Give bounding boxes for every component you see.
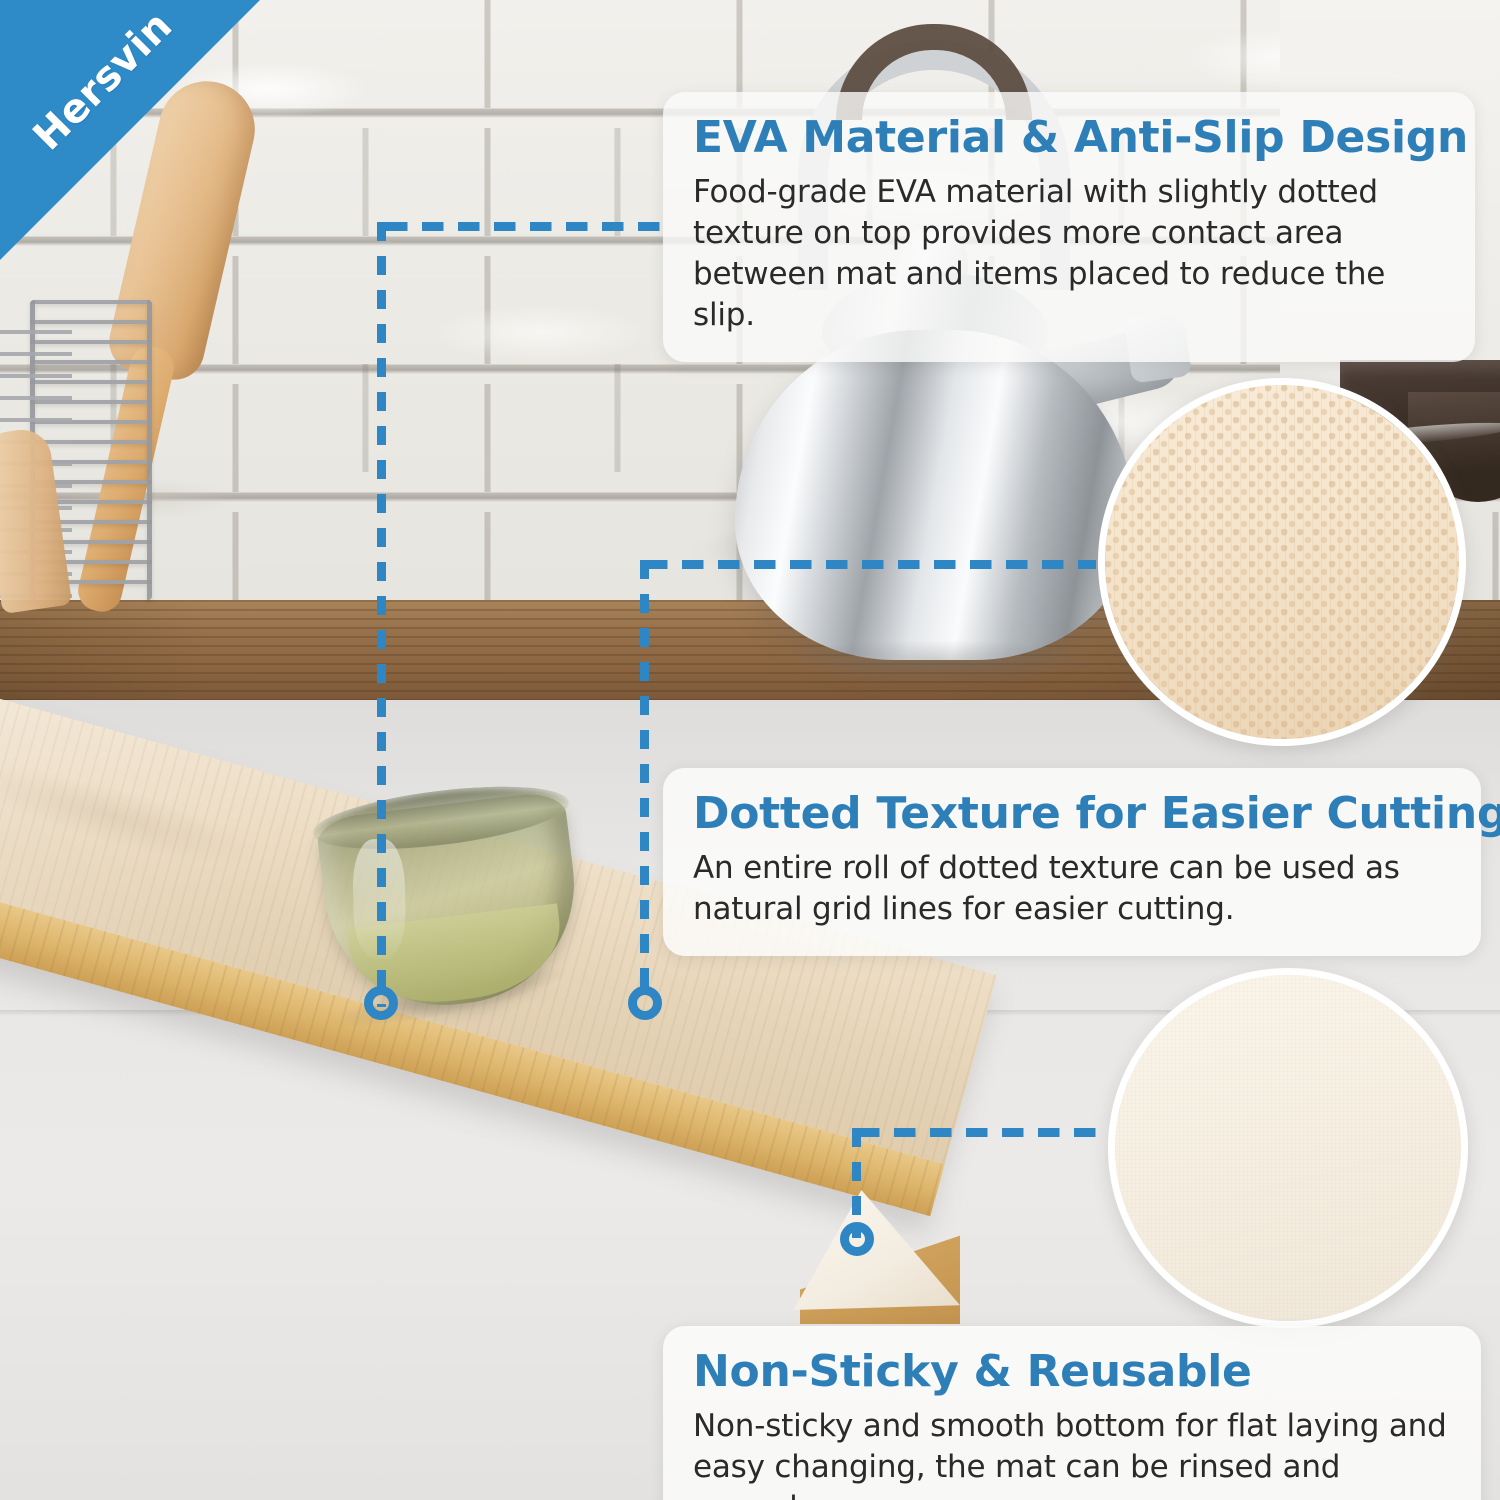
leader-1-horizontal-dash xyxy=(386,222,671,231)
leader-3-horizontal-dash xyxy=(858,1128,1106,1137)
kettle-shadow xyxy=(760,640,1120,680)
callout-panel-non-sticky: Non-Sticky & Reusable Non-sticky and smo… xyxy=(663,1326,1481,1500)
detail-circle-texture-closeup xyxy=(1098,378,1466,746)
detail-circle-smooth-bottom-closeup xyxy=(1108,968,1468,1328)
leader-3-endpoint-ring xyxy=(840,1222,874,1256)
kettle-body xyxy=(735,330,1135,660)
green-glass-bowl xyxy=(305,770,601,1031)
callout-heading-dotted-texture: Dotted Texture for Easier Cutting xyxy=(693,790,1451,838)
callout-panel-dotted-texture: Dotted Texture for Easier Cutting An ent… xyxy=(663,768,1481,956)
callout-body-dotted-texture: An entire roll of dotted texture can be … xyxy=(693,848,1451,930)
callout-heading-non-sticky: Non-Sticky & Reusable xyxy=(693,1348,1451,1396)
callout-heading-eva-material: EVA Material & Anti-Slip Design xyxy=(693,114,1445,162)
callout-panel-eva-material: EVA Material & Anti-Slip Design Food-gra… xyxy=(663,92,1475,362)
smooth-bottom-swatch xyxy=(1115,975,1461,1321)
leader-2-vertical-dash xyxy=(640,560,649,990)
infographic-canvas: Hersvin EVA Material & Anti-Slip Design … xyxy=(0,0,1500,1500)
brand-corner-banner: Hersvin xyxy=(0,0,260,260)
dotted-texture-swatch xyxy=(1105,385,1459,739)
leader-1-vertical-dash xyxy=(377,222,386,1007)
leader-2-endpoint-ring xyxy=(628,986,662,1020)
callout-body-eva-material: Food-grade EVA material with slightly do… xyxy=(693,172,1445,337)
callout-body-non-sticky: Non-sticky and smooth bottom for flat la… xyxy=(693,1406,1451,1500)
leader-1-endpoint-ring xyxy=(364,986,398,1020)
leader-2-horizontal-dash xyxy=(646,560,1096,569)
